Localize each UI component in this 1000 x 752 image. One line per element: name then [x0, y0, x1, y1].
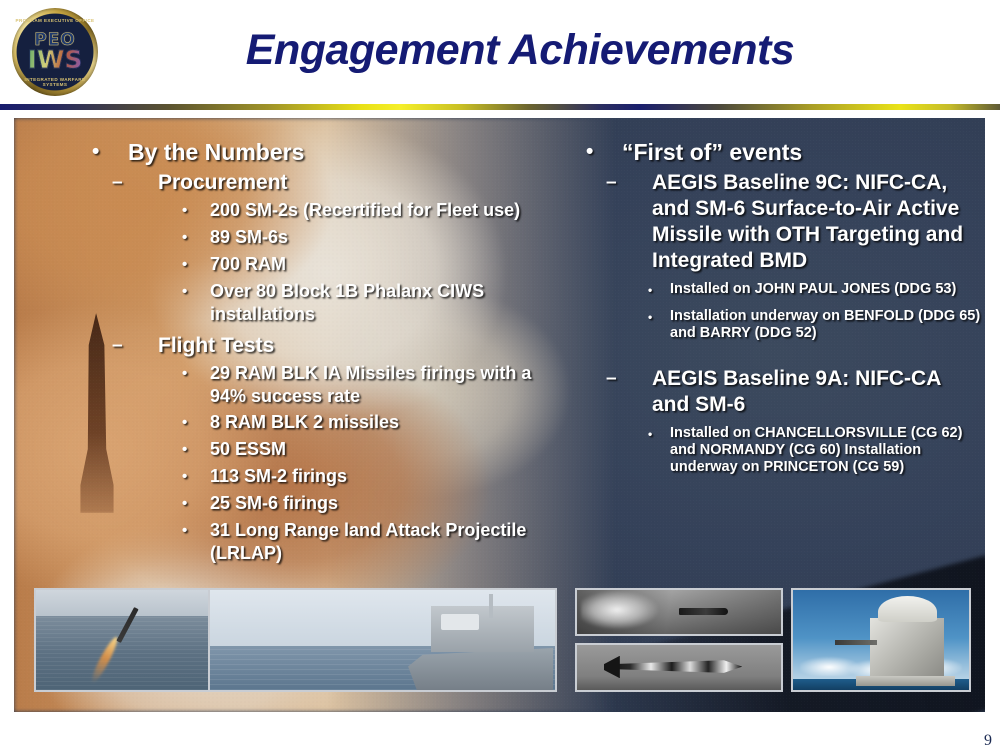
right-section-label: AEGIS Baseline 9A: NIFC-CA and SM-6	[652, 366, 982, 418]
list-item-label: 700 RAM	[210, 253, 286, 276]
bullet-icon: •	[648, 425, 670, 444]
right-heading-row: • “First of” events	[586, 138, 982, 166]
list-item-label: Installation underway on BENFOLD (DDG 65…	[670, 308, 982, 342]
bullet-icon: •	[586, 138, 622, 166]
slide-content-panel: • By the Numbers – Procurement • 200 SM-…	[14, 118, 985, 712]
bullet-icon: •	[182, 438, 210, 462]
page-title: Engagement Achievements	[120, 26, 920, 75]
right-content-column: • “First of” events – AEGIS Baseline 9C:…	[586, 138, 982, 484]
slide: PROGRAM EXECUTIVE OFFICE PEO IWS INTEGRA…	[0, 0, 1000, 752]
list-item-label: Over 80 Block 1B Phalanx CIWS installati…	[210, 280, 572, 326]
list-item: • 50 ESSM	[92, 438, 572, 462]
right-section-baseline-9c-label-row: – AEGIS Baseline 9C: NIFC-CA, and SM-6 S…	[586, 170, 982, 274]
left-section-flight-tests-label-row: – Flight Tests	[92, 333, 572, 359]
list-item: • 700 RAM	[92, 253, 572, 277]
bullet-icon: •	[182, 411, 210, 435]
photo-missile-body	[679, 608, 728, 614]
list-item: • 89 SM-6s	[92, 226, 572, 250]
list-item: • Installed on JOHN PAUL JONES (DDG 53)	[586, 281, 982, 300]
photo-missile-launch-over-ocean	[34, 588, 216, 692]
list-item: • Over 80 Block 1B Phalanx CIWS installa…	[92, 280, 572, 326]
logo-rim-bottom-text: INTEGRATED WARFARE SYSTEMS	[12, 77, 98, 87]
right-section-baseline-9a-label-row: – AEGIS Baseline 9A: NIFC-CA and SM-6	[586, 366, 982, 418]
left-section-label: Procurement	[158, 170, 288, 196]
photo-gun-mount	[870, 618, 944, 676]
list-item-label: 31 Long Range land Attack Projectile (LR…	[210, 519, 572, 565]
photo-radar-dome	[878, 596, 938, 622]
logo-iws-text: IWS	[12, 45, 98, 74]
list-item: • 8 RAM BLK 2 missiles	[92, 411, 572, 435]
list-item-label: 25 SM-6 firings	[210, 492, 338, 515]
list-item: • Installed on CHANCELLORSVILLE (CG 62) …	[586, 425, 982, 476]
bullet-icon: •	[182, 492, 210, 516]
peo-iws-logo-icon: PROGRAM EXECUTIVE OFFICE PEO IWS INTEGRA…	[12, 8, 98, 96]
photo-missile-tracking-grayscale	[575, 643, 783, 692]
bullet-icon: •	[182, 226, 210, 250]
page-number: 9	[984, 732, 992, 750]
list-item: • Installation underway on BENFOLD (DDG …	[586, 308, 982, 342]
left-column-heading: By the Numbers	[128, 138, 304, 166]
left-section-procurement-label-row: – Procurement	[92, 170, 572, 196]
list-item-label: 29 RAM BLK IA Missiles firings with a 94…	[210, 362, 572, 408]
bullet-icon: •	[182, 465, 210, 489]
list-item: • 25 SM-6 firings	[92, 492, 572, 516]
list-item-label: Installed on CHANCELLORSVILLE (CG 62) an…	[670, 425, 982, 476]
dash-icon: –	[606, 366, 652, 392]
left-content-column: • By the Numbers – Procurement • 200 SM-…	[92, 138, 572, 568]
spacer	[586, 350, 982, 366]
photo-gun-barrel	[835, 640, 877, 645]
left-section-label: Flight Tests	[158, 333, 274, 359]
bullet-icon: •	[182, 199, 210, 223]
bullet-icon: •	[92, 138, 128, 166]
bullet-icon: •	[182, 253, 210, 277]
photo-aegis-cruiser-at-sea	[208, 588, 557, 692]
list-item-label: 89 SM-6s	[210, 226, 288, 249]
bullet-icon: •	[182, 519, 210, 543]
bullet-icon: •	[182, 362, 210, 386]
list-item-label: 113 SM-2 firings	[210, 465, 347, 488]
photo-phalanx-ciws-mount	[791, 588, 971, 692]
photo-missile-intercept-grayscale	[575, 588, 783, 636]
list-item-label: 50 ESSM	[210, 438, 286, 461]
dash-icon: –	[606, 170, 652, 196]
bullet-icon: •	[182, 280, 210, 304]
list-item-label: 8 RAM BLK 2 missiles	[210, 411, 399, 434]
list-item: • 113 SM-2 firings	[92, 465, 572, 489]
photo-radar-panel	[441, 614, 479, 630]
list-item: • 29 RAM BLK IA Missiles firings with a …	[92, 362, 572, 408]
photo-smoke-cloud	[581, 591, 671, 633]
photo-ship-mast	[489, 594, 493, 618]
dash-icon: –	[112, 333, 158, 359]
dash-icon: –	[112, 170, 158, 196]
list-item-label: 200 SM-2s (Recertified for Fleet use)	[210, 199, 520, 222]
bullet-icon: •	[648, 281, 670, 300]
bullet-icon: •	[648, 308, 670, 327]
list-item: • 200 SM-2s (Recertified for Fleet use)	[92, 199, 572, 223]
right-section-label: AEGIS Baseline 9C: NIFC-CA, and SM-6 Sur…	[652, 170, 982, 274]
header-divider	[0, 104, 1000, 110]
list-item: • 31 Long Range land Attack Projectile (…	[92, 519, 572, 565]
photo-mount-base	[856, 676, 955, 686]
slide-header: PROGRAM EXECUTIVE OFFICE PEO IWS INTEGRA…	[0, 0, 1000, 105]
left-heading-row: • By the Numbers	[92, 138, 572, 166]
logo-rim-top-text: PROGRAM EXECUTIVE OFFICE	[12, 18, 98, 23]
right-column-heading: “First of” events	[622, 138, 802, 166]
list-item-label: Installed on JOHN PAUL JONES (DDG 53)	[670, 281, 956, 298]
photo-sky	[36, 590, 214, 616]
